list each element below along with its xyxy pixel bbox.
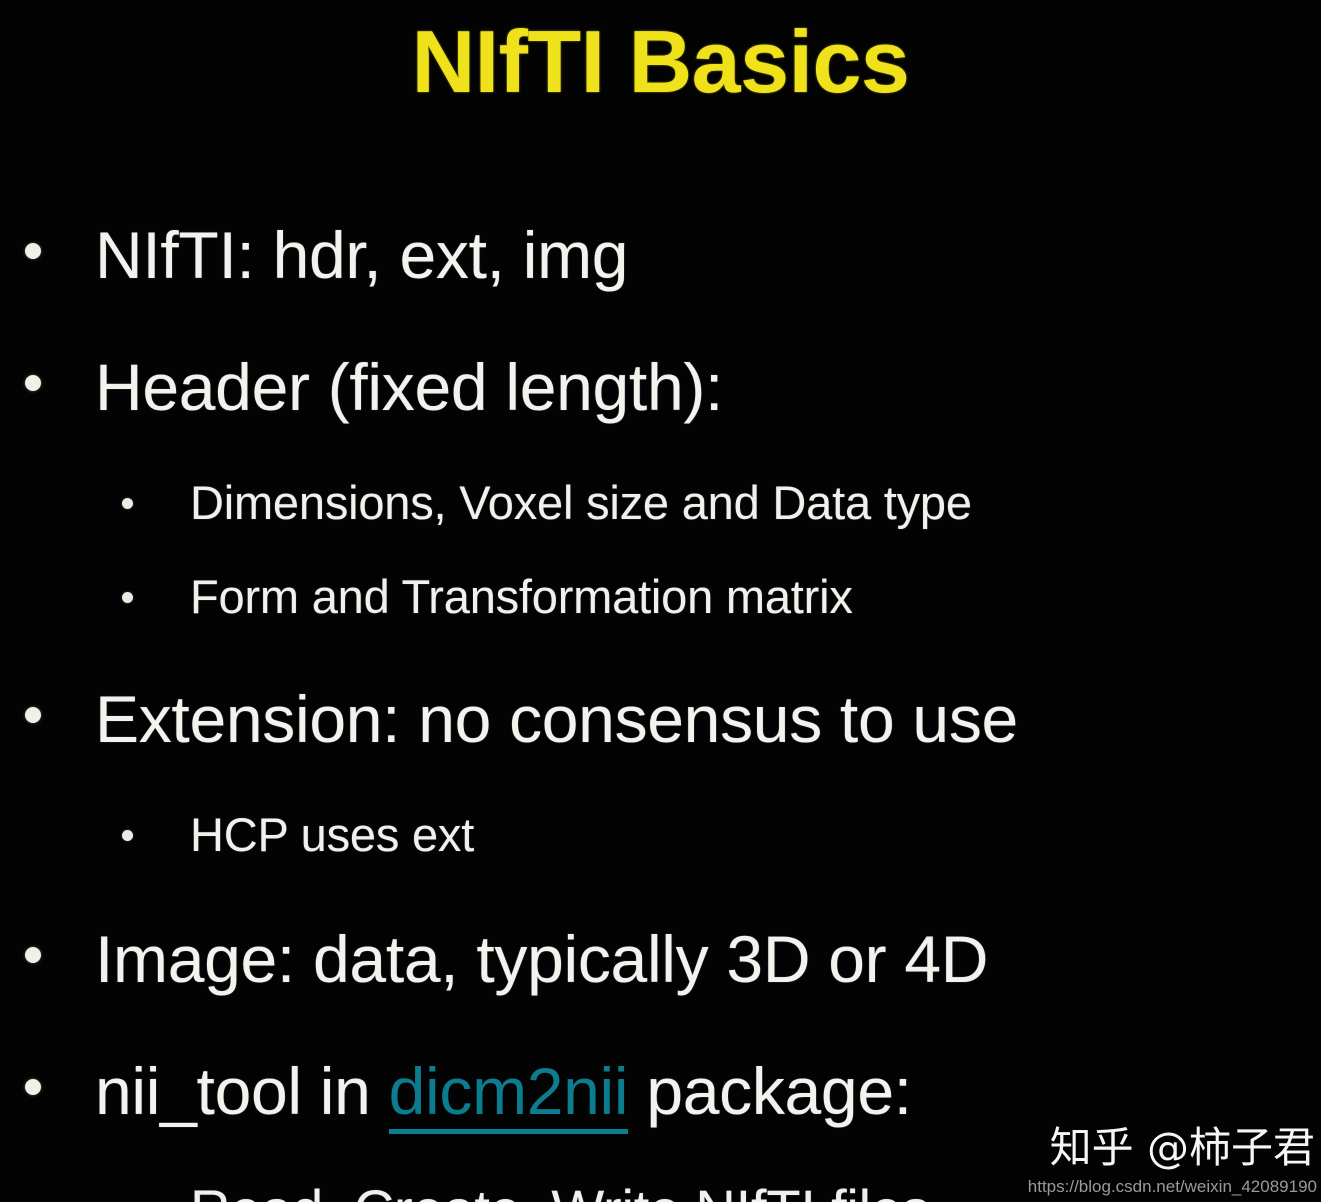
bullet-dot-icon: [122, 592, 133, 603]
list-item-label: Header (fixed length):: [95, 328, 723, 446]
bullet-dot-icon: [25, 707, 41, 723]
list-item-label: HCP uses ext: [190, 788, 474, 882]
spacer: [0, 314, 1321, 328]
presentation-slide: NIfTI Basics NIfTI: hdr, ext, img Header…: [0, 0, 1321, 1202]
list-item: Dimensions, Voxel size and Data type: [0, 456, 1321, 550]
list-item: Extension: no consensus to use: [0, 660, 1321, 778]
bullet-dot-icon: [122, 498, 133, 509]
list-item-label: nii_tool in dicm2nii package:: [95, 1032, 912, 1150]
list-item-with-link: nii_tool in dicm2nii package:: [0, 1032, 1321, 1150]
bullet-dot-icon: [122, 830, 133, 841]
list-item-label: Image: data, typically 3D or 4D: [95, 900, 988, 1018]
bullet-list: NIfTI: hdr, ext, img Header (fixed lengt…: [0, 196, 1321, 1202]
list-item: HCP uses ext: [0, 788, 1321, 882]
list-item: Image: data, typically 3D or 4D: [0, 900, 1321, 1018]
bullet-dot-icon: [25, 375, 41, 391]
text-before-link: nii_tool in: [95, 1054, 389, 1128]
spacer: [0, 644, 1321, 660]
watermark-url: https://blog.csdn.net/weixin_42089190: [1028, 1176, 1317, 1198]
bullet-dot-icon: [25, 1079, 41, 1095]
spacer: [0, 1150, 1321, 1160]
list-item-label: Dimensions, Voxel size and Data type: [190, 456, 972, 550]
list-item-label: Form and Transformation matrix: [190, 550, 853, 644]
list-item: Form and Transformation matrix: [0, 550, 1321, 644]
spacer: [0, 778, 1321, 788]
list-item-label: NIfTI: hdr, ext, img: [95, 196, 628, 314]
spacer: [0, 882, 1321, 900]
bullet-dot-icon: [25, 243, 41, 259]
list-item: NIfTI: hdr, ext, img: [0, 196, 1321, 314]
list-item-label: Extension: no consensus to use: [95, 660, 1018, 778]
spacer: [0, 446, 1321, 456]
dicm2nii-link[interactable]: dicm2nii: [389, 1054, 629, 1134]
list-item: Header (fixed length):: [0, 328, 1321, 446]
spacer: [0, 1018, 1321, 1032]
list-item-label: Read, Create, Write NIfTI files: [190, 1160, 930, 1202]
bullet-dot-icon: [25, 947, 41, 963]
text-after-link: package:: [628, 1054, 912, 1128]
page-title: NIfTI Basics: [0, 14, 1321, 109]
